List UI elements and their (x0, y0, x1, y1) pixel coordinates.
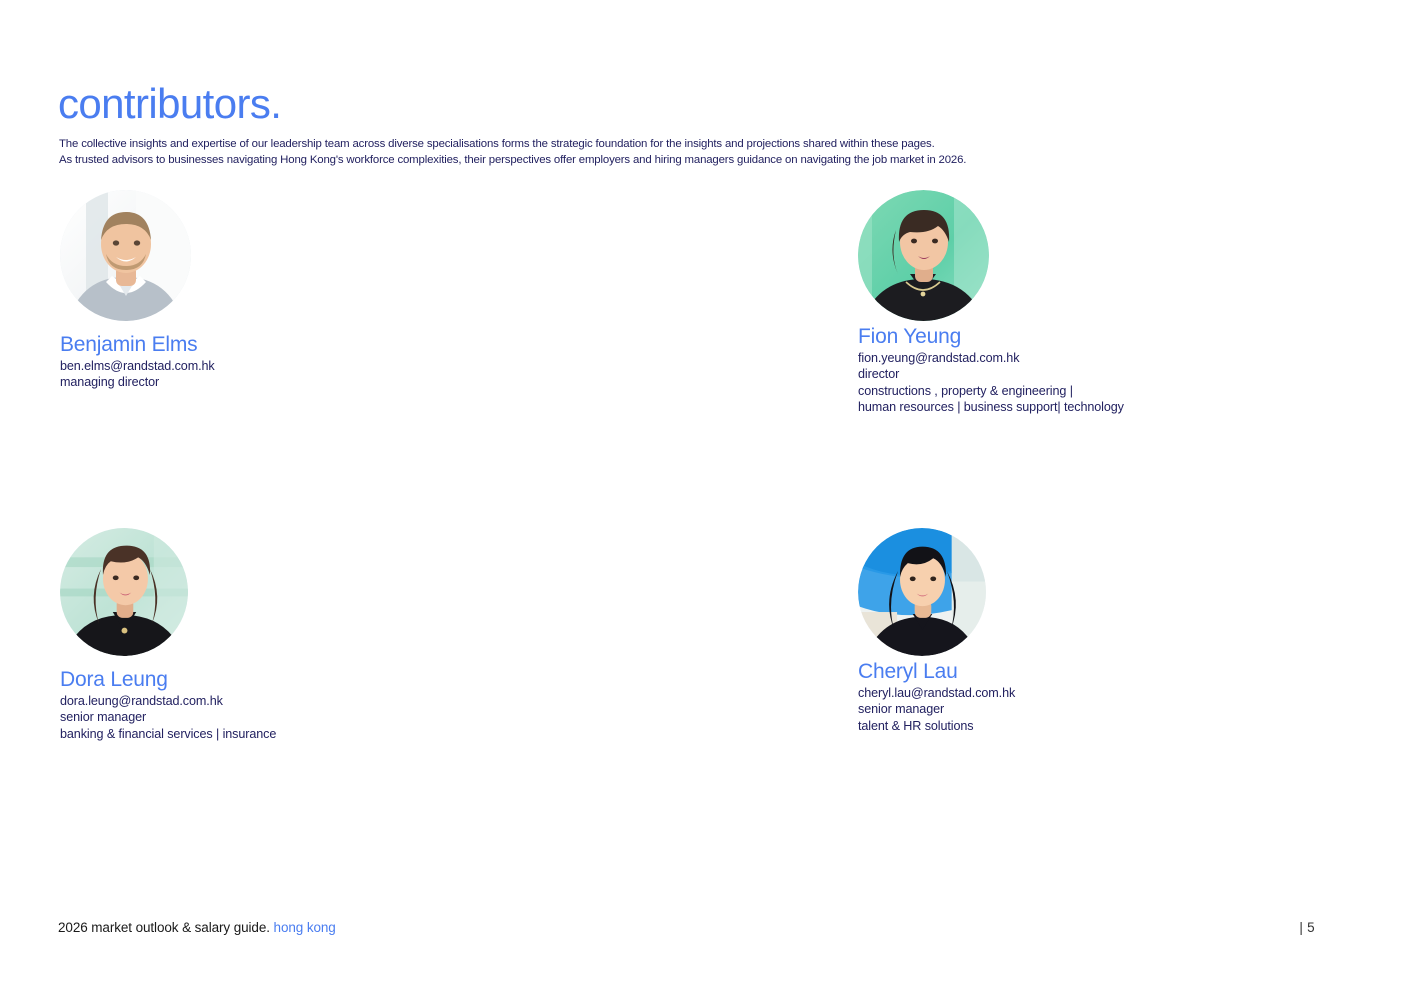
contributor-name: Benjamin Elms (60, 333, 398, 357)
contributor-email[interactable]: dora.leung@randstad.com.hk (60, 693, 398, 709)
avatar-benjamin-elms (60, 190, 191, 321)
contributor-role: senior manager (60, 709, 398, 725)
contributor-specialisation-line-1: banking & financial services | insurance (60, 726, 398, 742)
contributor-card-dora-leung: Dora Leung dora.leung@randstad.com.hk se… (58, 528, 398, 742)
page-number: | 5 (1299, 919, 1315, 937)
contributor-card-fion-yeung: Fion Yeung fion.yeung@randstad.com.hk di… (458, 190, 858, 415)
contributors-grid: Benjamin Elms ben.elms@randstad.com.hk m… (58, 190, 1348, 778)
document-page: contributors. The collective insights an… (0, 0, 1403, 992)
contributor-name: Dora Leung (60, 668, 398, 692)
contributors-row-1: Benjamin Elms ben.elms@randstad.com.hk m… (58, 190, 1348, 440)
page-title: contributors. (58, 82, 281, 126)
contributor-email[interactable]: ben.elms@randstad.com.hk (60, 358, 398, 374)
contributor-info-dora-leung: Dora Leung dora.leung@randstad.com.hk se… (60, 668, 398, 742)
contributor-card-benjamin-elms: Benjamin Elms ben.elms@randstad.com.hk m… (58, 190, 398, 391)
contributors-row-2: Dora Leung dora.leung@randstad.com.hk se… (58, 528, 1348, 778)
footer-location: hong kong (274, 920, 336, 935)
intro-line-1: The collective insights and expertise of… (59, 136, 1159, 152)
contributor-card-tommy-wong: Tommy Wong tommy.wong@randstad.com.hk as… (889, 190, 1403, 399)
contributor-role: managing director (60, 374, 398, 390)
intro-line-2: As trusted advisors to businesses naviga… (59, 152, 1159, 168)
footer-title: 2026 market outlook & salary guide. (58, 920, 270, 935)
contributor-card-cheryl-lau: Cheryl Lau cheryl.lau@randstad.com.hk se… (458, 528, 858, 734)
intro-paragraph: The collective insights and expertise of… (59, 136, 1159, 169)
avatar-dora-leung (60, 528, 188, 656)
contributor-card-kelvin-chu: Kelvin Chu kelvin.chu@randstad.com.hk ma… (889, 528, 1403, 734)
footer: 2026 market outlook & salary guide. hong… (58, 919, 336, 937)
contributor-info-benjamin-elms: Benjamin Elms ben.elms@randstad.com.hk m… (60, 333, 398, 391)
